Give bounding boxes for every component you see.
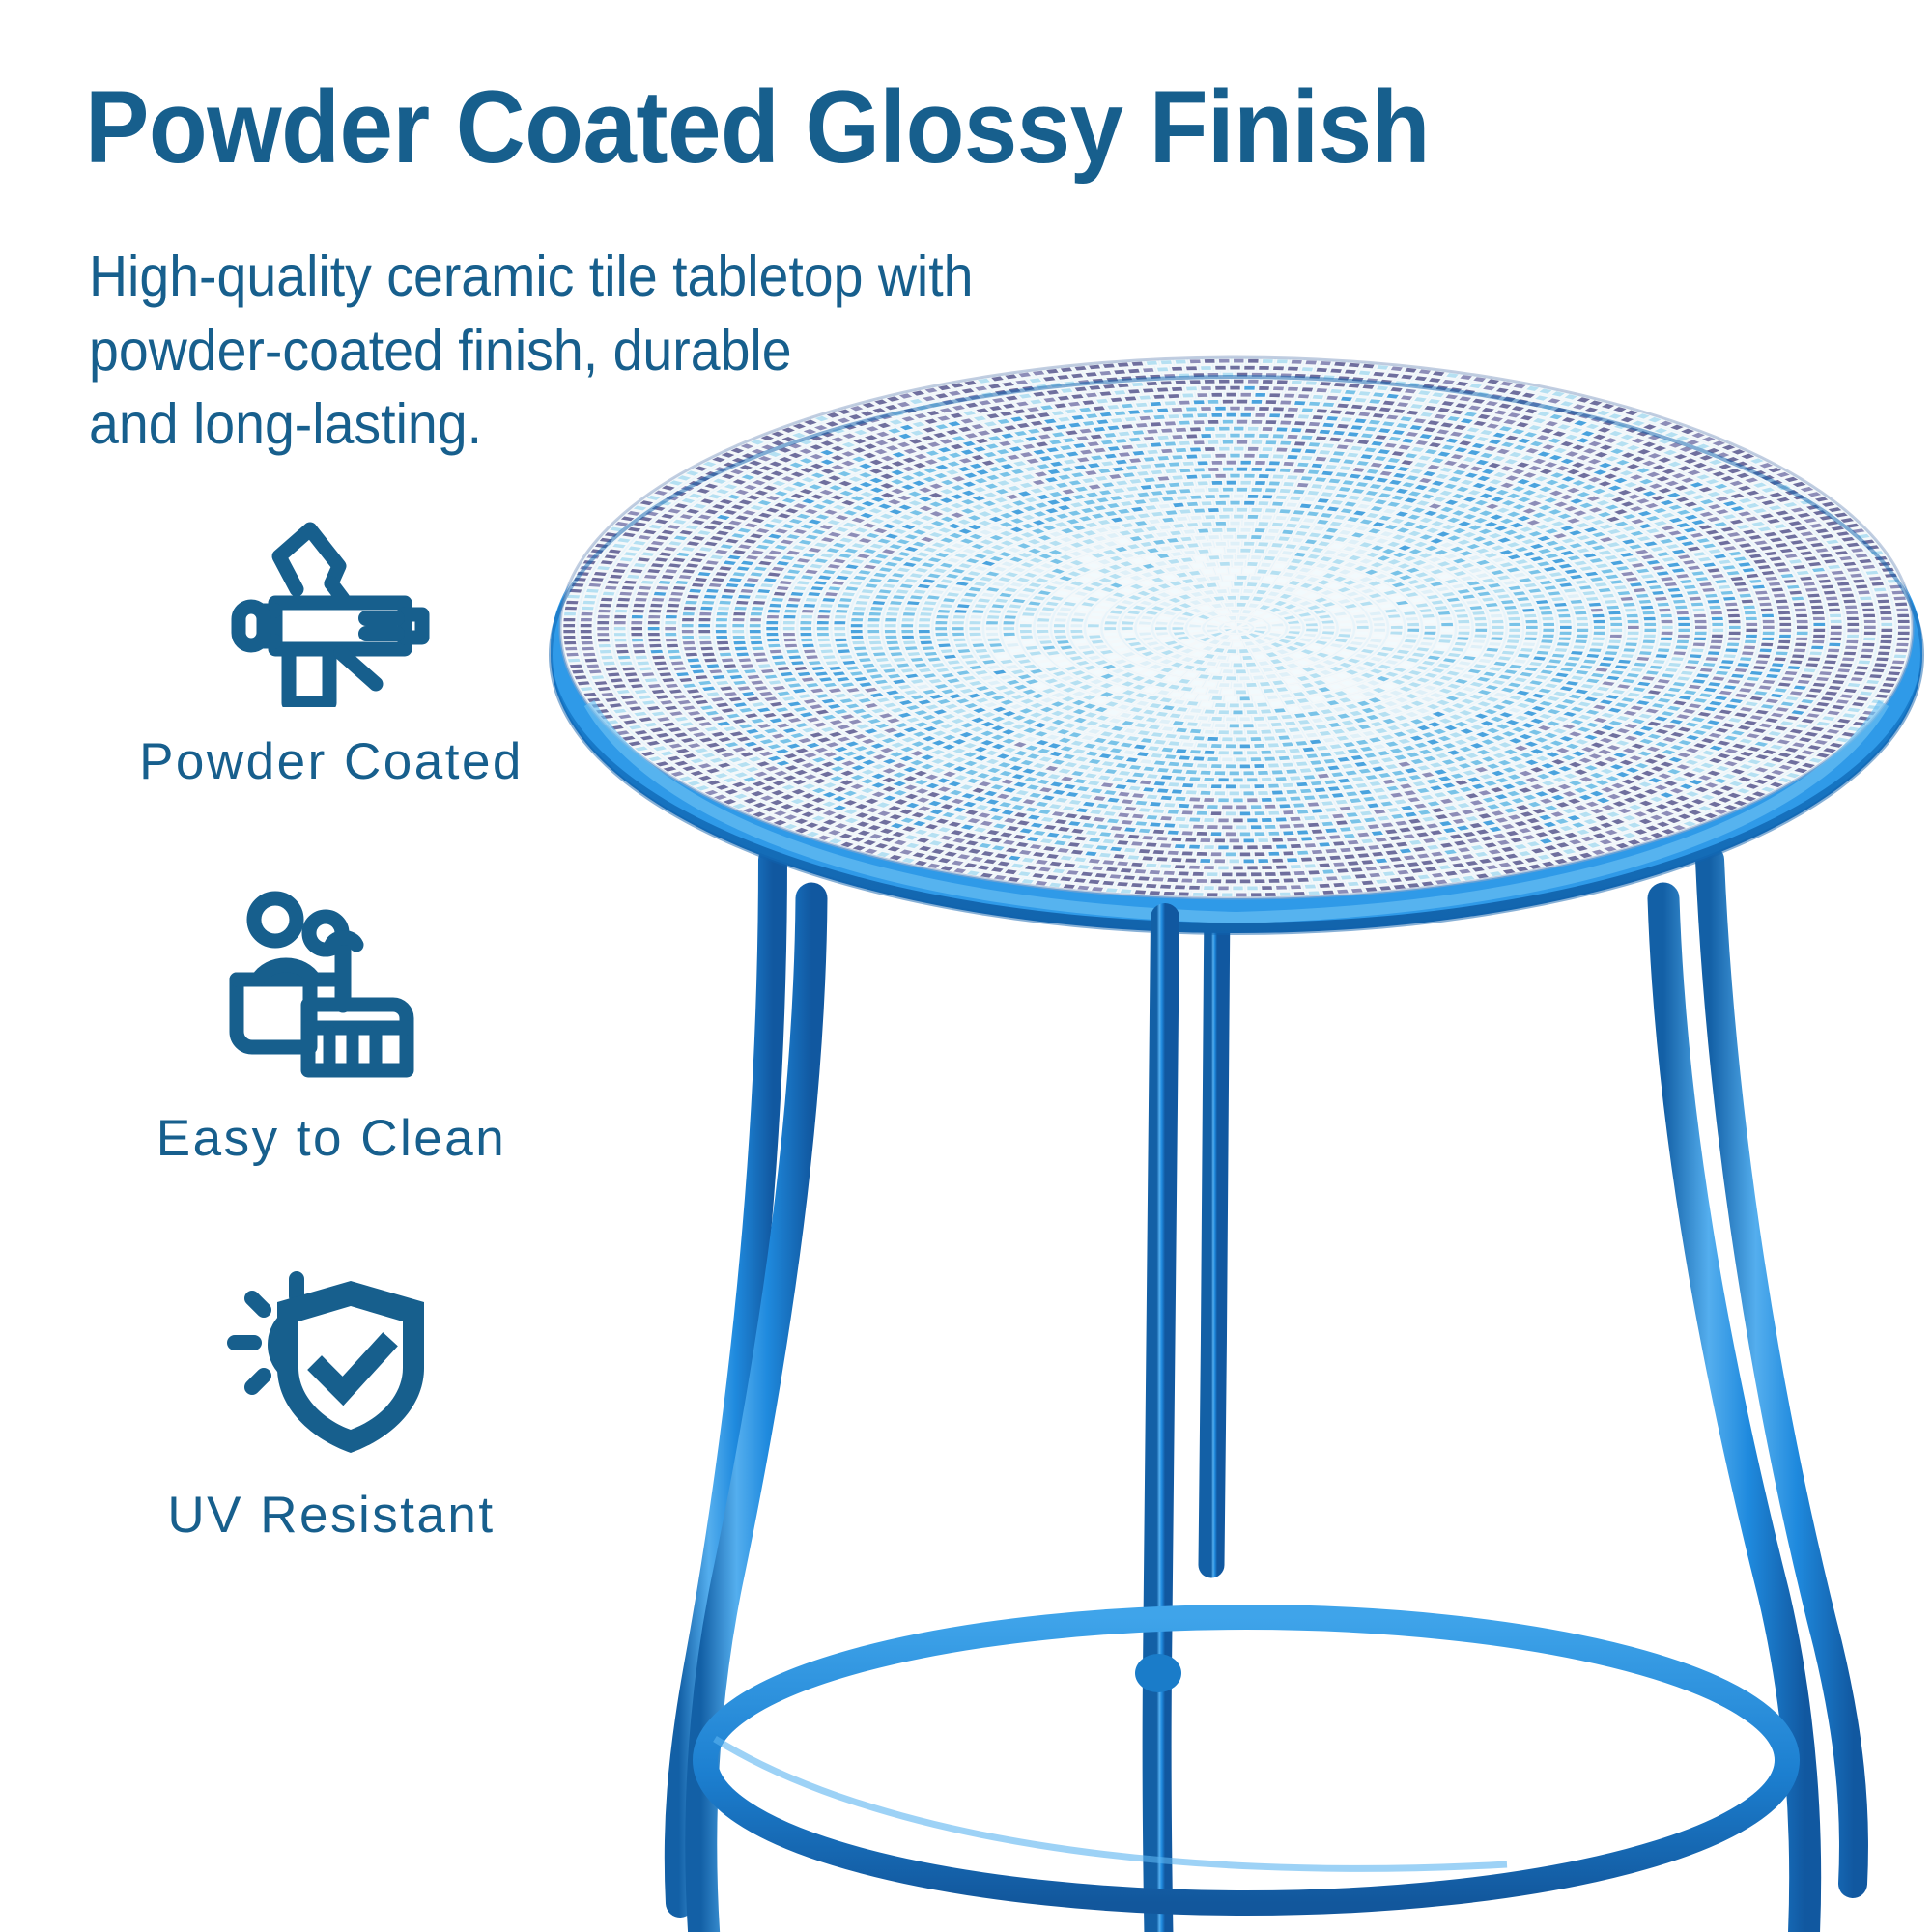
feature-label: Powder Coated [104, 732, 558, 791]
subtitle-line-3: and long-lasting. [89, 387, 1160, 462]
feature-label: Easy to Clean [104, 1109, 558, 1168]
sun-shield-check-icon [104, 1264, 558, 1464]
feature-item-powder-coated: Powder Coated [104, 510, 558, 887]
feature-list: Powder Coated [104, 510, 558, 1640]
table-legs [679, 860, 1854, 1903]
stretcher-ring [705, 1617, 1787, 1903]
feature-item-uv-resistant: UV Resistant [104, 1264, 558, 1640]
product-photo [483, 319, 1932, 1932]
subtitle-line-1: High-quality ceramic tile tabletop with [89, 240, 1160, 314]
subtitle: High-quality ceramic tile tabletop with … [89, 240, 1160, 462]
bucket-brush-icon [104, 887, 558, 1088]
infographic-canvas: Powder Coated Glossy Finish High-quality… [0, 0, 1932, 1932]
page-title: Powder Coated Glossy Finish [85, 75, 1612, 179]
leg-joint [1135, 1654, 1181, 1692]
feature-item-easy-to-clean: Easy to Clean [104, 887, 558, 1264]
subtitle-line-2: powder-coated finish, durable [89, 314, 1160, 388]
spray-gun-icon [104, 510, 558, 711]
feature-label: UV Resistant [104, 1486, 558, 1545]
table-legs-front [701, 898, 1805, 1932]
